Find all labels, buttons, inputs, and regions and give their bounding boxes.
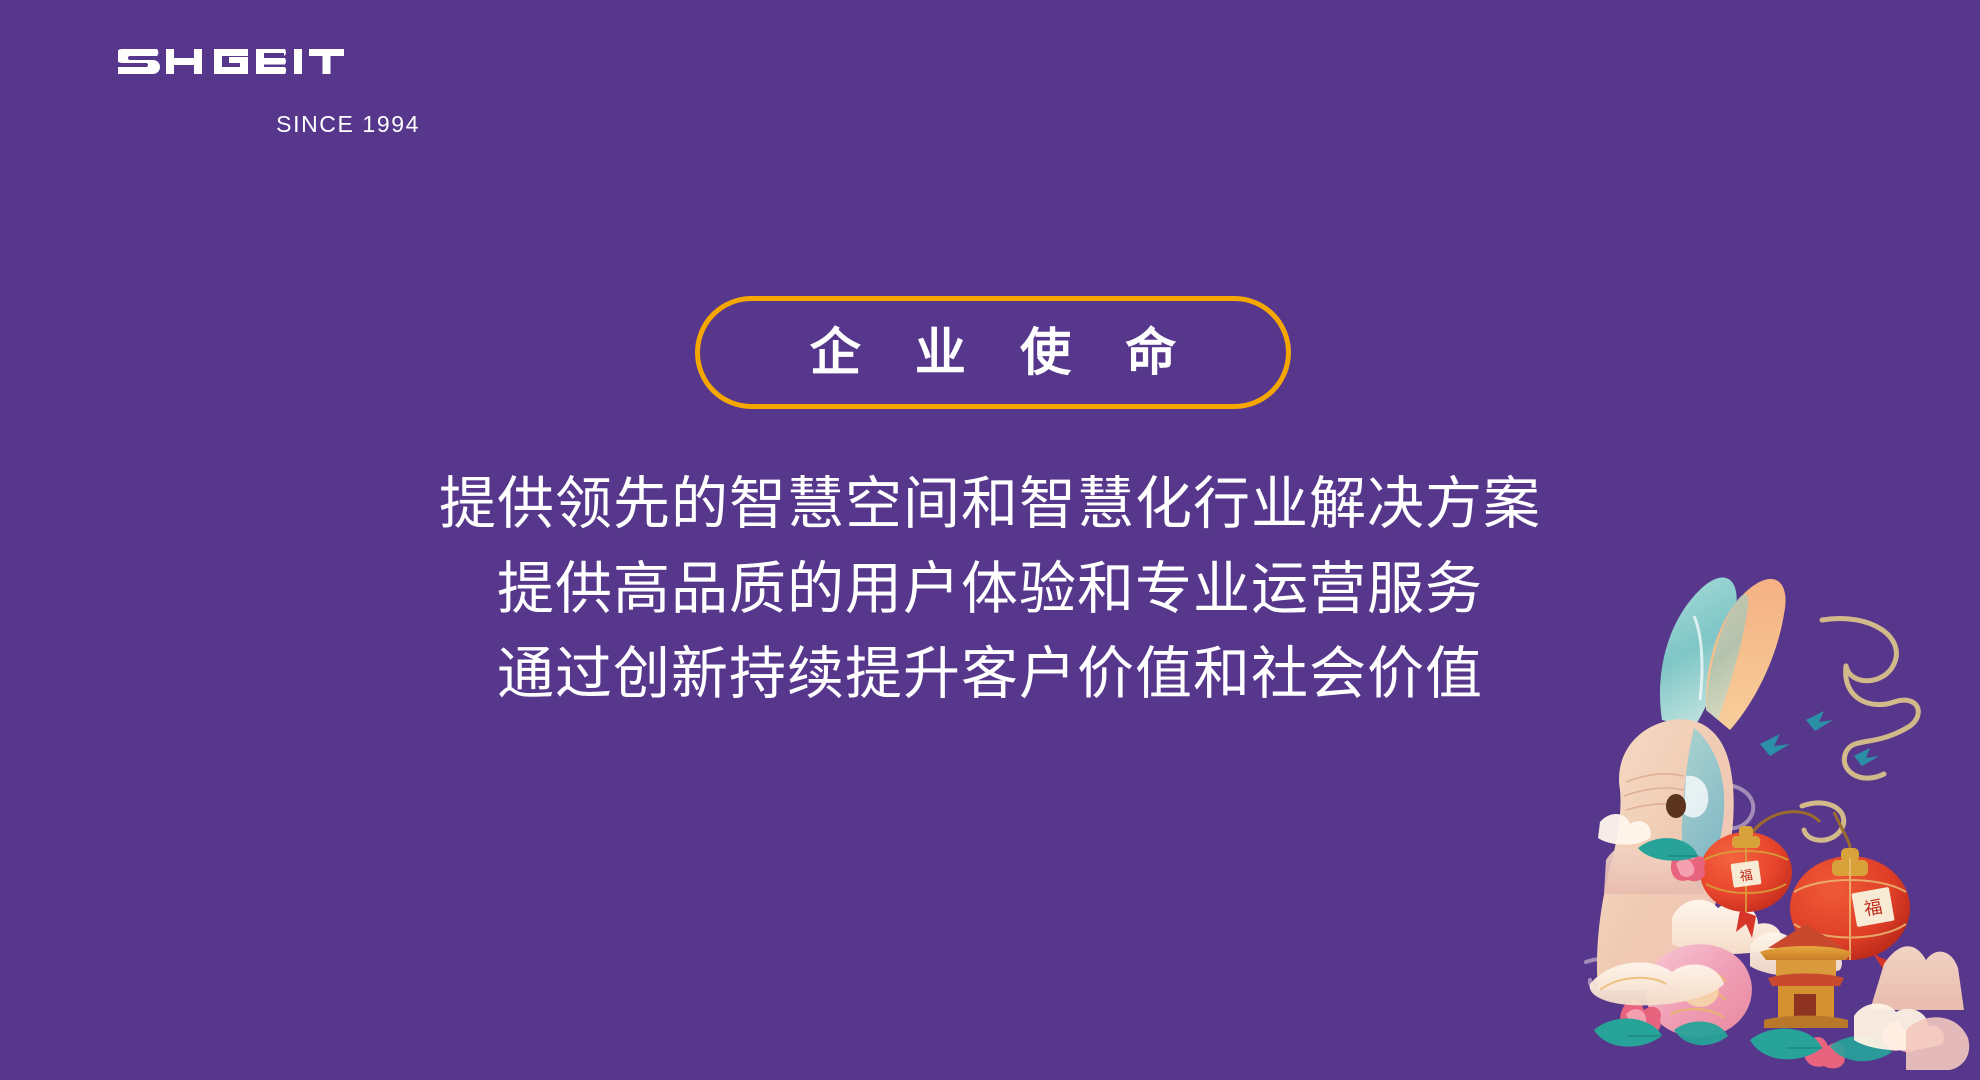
lotus-flower-icon: [1671, 851, 1705, 881]
red-lantern-icon: 福: [1700, 812, 1820, 938]
rabbit-eye: [1666, 794, 1686, 818]
lantern-charm-text: 福: [1739, 868, 1754, 885]
mission-line-2: 提供高品质的用户体验和专业运营服务: [0, 547, 1980, 632]
page-title: 企 业 使 命: [790, 327, 1197, 378]
cloud-icon: [1590, 962, 1724, 1005]
cloud-icon: [1906, 1017, 1969, 1070]
pavilion-icon: [1760, 924, 1852, 1028]
peony-flower-icon: [1646, 944, 1752, 1037]
lotus-flower-icon: [1882, 1021, 1919, 1052]
brand-logo: SINCE 1994: [118, 44, 418, 136]
mission-line-3: 通过创新持续提升客户价值和社会价值: [0, 632, 1980, 717]
section-title-badge: 企 业 使 命: [695, 296, 1291, 409]
lantern-charm-text: 福: [1863, 897, 1884, 921]
slide-canvas: SINCE 1994 企 业 使 命 提供领先的智慧空间和智慧化行业解决方案 提…: [0, 0, 1980, 1080]
mission-statement: 提供领先的智慧空间和智慧化行业解决方案 提供高品质的用户体验和专业运营服务 通过…: [0, 462, 1980, 717]
logo-tagline: SINCE 1994: [276, 113, 420, 136]
swallow-bird-icon: [1760, 711, 1879, 766]
cloud-icon: [1854, 1003, 1944, 1050]
lotus-flower-icon: [1804, 1037, 1845, 1068]
leaf-icon: [1594, 838, 1892, 1061]
cloud-icon: [1672, 900, 1842, 977]
mission-line-1: 提供领先的智慧空间和智慧化行业解决方案: [0, 462, 1980, 547]
shgbit-wordmark-logo-icon: [118, 44, 378, 86]
lotus-flower-icon: [1620, 1000, 1661, 1035]
red-lantern-icon: 福: [1790, 812, 1920, 980]
mountain-icon: [1870, 946, 1964, 1010]
